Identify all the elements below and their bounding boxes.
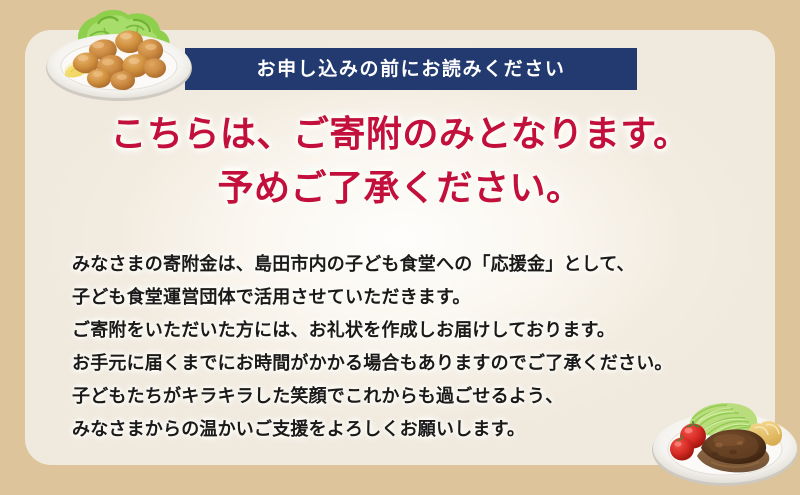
notice-banner-label: お申し込みの前にお読みください [256,60,565,79]
body-line-1: みなさまの寄附金は、島田市内の子ども食堂への「応援金」として、 [72,248,732,281]
headline-line-2: 予めご了承ください。 [0,162,800,216]
body-line-3: ご寄附をいただいた方には、お礼状を作成しお届けしております。 [72,314,732,347]
body-line-6: みなさまからの温かいご支援をよろしくお願いします。 [72,413,732,446]
notice-banner: お申し込みの前にお読みください [185,48,637,90]
body-text-block: みなさまの寄附金は、島田市内の子ども食堂への「応援金」として、 子ども食堂運営団… [72,248,732,446]
hamburg-steak-plate-illustration [645,392,800,495]
notice-page: お申し込みの前にお読みください こちらは、ご寄附のみとなります。 予めご了承くだ… [0,0,800,495]
body-line-5: 子どもたちがキラキラした笑顔でこれからも過ごせるよう、 [72,380,732,413]
headline-block: こちらは、ご寄附のみとなります。 予めご了承ください。 [0,108,800,216]
karaage-plate-illustration [38,2,200,106]
headline-line-1: こちらは、ご寄附のみとなります。 [0,108,800,162]
body-line-2: 子ども食堂運営団体で活用させていただきます。 [72,281,732,314]
body-line-4: お手元に届くまでにお時間がかかる場合もありますのでご了承ください。 [72,347,732,380]
